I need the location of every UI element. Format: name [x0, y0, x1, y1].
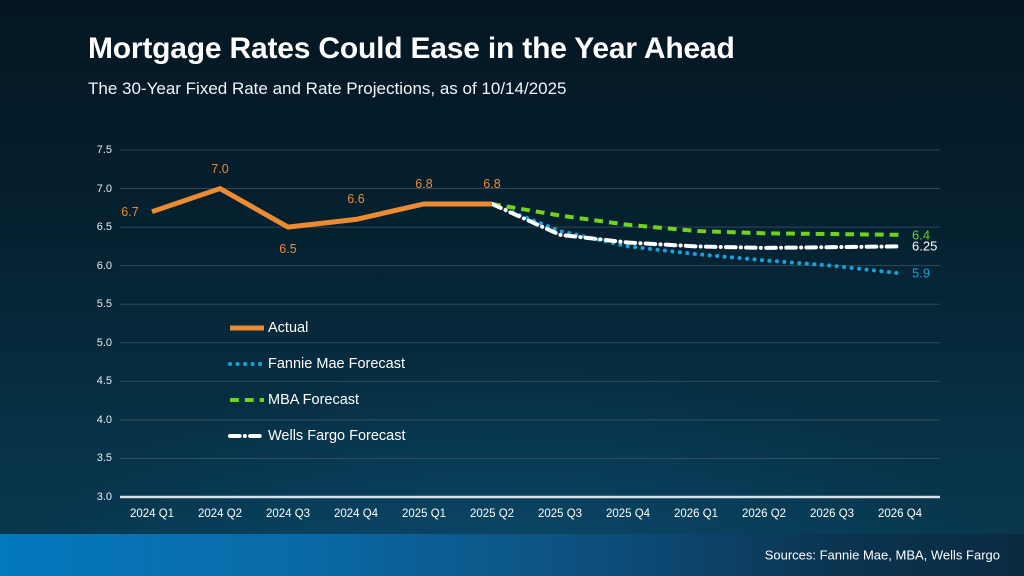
x-axis-tick-label: 2026 Q3	[795, 508, 869, 520]
footer-bar: Sources: Fannie Mae, MBA, Wells Fargo	[0, 534, 1024, 576]
y-axis-tick-label: 4.5	[72, 375, 112, 387]
legend-item-label: MBA Forecast	[268, 392, 359, 408]
header-block: Mortgage Rates Could Ease in the Year Ah…	[88, 32, 968, 99]
series-line	[152, 189, 492, 228]
y-axis-tick-label: 6.0	[72, 260, 112, 272]
x-axis-tick-label: 2025 Q1	[387, 508, 461, 520]
chart-legend: ActualFannie Mae ForecastMBA ForecastWel…	[228, 310, 406, 454]
legend-swatch-icon	[228, 393, 266, 407]
series-line	[492, 204, 900, 248]
x-axis-tick-label: 2024 Q3	[251, 508, 325, 520]
y-axis-tick-label: 6.5	[72, 221, 112, 233]
x-axis-tick-label: 2025 Q4	[591, 508, 665, 520]
y-axis-tick-label: 7.0	[72, 183, 112, 195]
data-point-label: 7.0	[211, 162, 228, 176]
y-axis-tick-label: 5.5	[72, 298, 112, 310]
data-point-label: 6.6	[347, 192, 364, 206]
x-axis-tick-label: 2025 Q2	[455, 508, 529, 520]
legend-swatch-icon	[228, 429, 266, 443]
x-axis-tick-label: 2024 Q2	[183, 508, 257, 520]
data-point-label: 6.8	[415, 177, 432, 191]
legend-item-actual[interactable]: Actual	[228, 310, 406, 346]
page-title: Mortgage Rates Could Ease in the Year Ah…	[88, 32, 968, 65]
legend-swatch-icon	[228, 357, 266, 371]
legend-item-wells-fargo-forecast[interactable]: Wells Fargo Forecast	[228, 418, 406, 454]
x-axis-tick-label: 2026 Q4	[863, 508, 937, 520]
data-point-label: 6.8	[483, 177, 500, 191]
legend-item-mba-forecast[interactable]: MBA Forecast	[228, 382, 406, 418]
y-axis-tick-label: 3.5	[72, 452, 112, 464]
y-axis-tick-label: 3.0	[72, 491, 112, 503]
legend-item-label: Wells Fargo Forecast	[268, 428, 406, 444]
slide-canvas: Mortgage Rates Could Ease in the Year Ah…	[0, 0, 1024, 576]
data-point-label: 6.7	[121, 205, 138, 219]
legend-item-fannie-mae-forecast[interactable]: Fannie Mae Forecast	[228, 346, 406, 382]
x-axis-tick-label: 2026 Q2	[727, 508, 801, 520]
x-axis-tick-label: 2024 Q1	[115, 508, 189, 520]
data-point-label: 6.5	[279, 242, 296, 256]
legend-swatch-icon	[228, 321, 266, 335]
series-end-label: 5.9	[912, 266, 930, 281]
y-axis-tick-label: 4.0	[72, 414, 112, 426]
sources-text: Sources: Fannie Mae, MBA, Wells Fargo	[765, 548, 1000, 563]
y-axis-tick-label: 7.5	[72, 144, 112, 156]
series-end-label: 6.25	[912, 239, 937, 254]
y-axis-tick-label: 5.0	[72, 337, 112, 349]
page-subtitle: The 30-Year Fixed Rate and Rate Projecti…	[88, 79, 968, 99]
legend-item-label: Actual	[268, 320, 308, 336]
x-axis-tick-label: 2025 Q3	[523, 508, 597, 520]
x-axis-tick-label: 2026 Q1	[659, 508, 733, 520]
legend-item-label: Fannie Mae Forecast	[268, 356, 405, 372]
x-axis-tick-label: 2024 Q4	[319, 508, 393, 520]
